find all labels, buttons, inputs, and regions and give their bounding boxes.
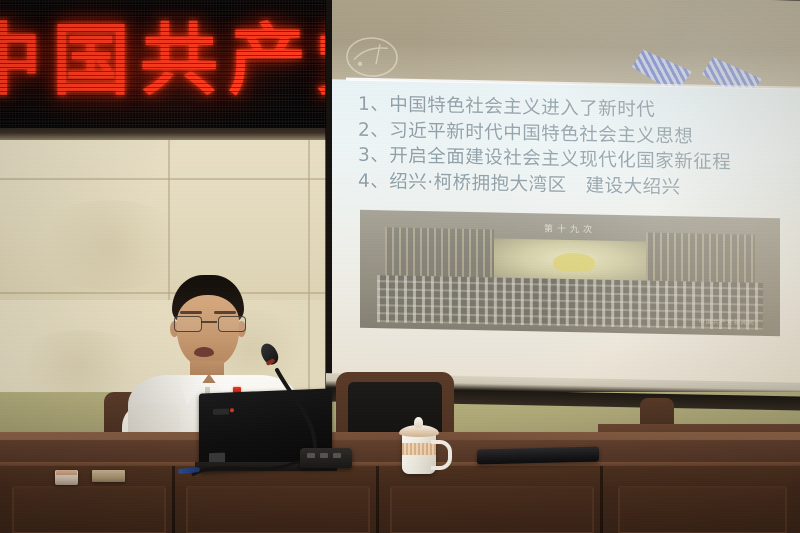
laptop-logo-dot-icon <box>230 408 234 412</box>
desk-panel <box>618 486 787 533</box>
desk-seam <box>600 466 603 533</box>
desk-panel <box>390 486 594 533</box>
desk-panel <box>12 486 166 533</box>
glasses-lens <box>174 316 202 332</box>
projection-screen: 1、中国特色社会主义进入了新时代 2、习近平新时代中国特色社会主义思想 3、开启… <box>332 0 800 393</box>
microphone-base[interactable] <box>300 448 352 468</box>
microphone-button[interactable] <box>307 453 315 458</box>
desk-seam <box>376 466 379 533</box>
led-banner: 中国共产党 <box>0 0 330 128</box>
desk-seam <box>172 466 175 533</box>
slide-logo-icon <box>344 33 400 80</box>
speaker-mouth <box>194 347 214 357</box>
led-banner-text: 中国共产党 <box>0 16 330 106</box>
wall-seam <box>0 178 340 180</box>
teacup-lid-knob <box>414 417 423 428</box>
microphone-stem <box>268 348 323 452</box>
laptop-logo-icon <box>213 408 229 415</box>
microphone-button[interactable] <box>333 453 341 458</box>
photo-emblem <box>553 253 595 273</box>
card-stack <box>92 470 125 482</box>
speaker-eyebrow <box>180 311 202 314</box>
glasses-lens <box>218 316 246 332</box>
desk-panel <box>186 486 370 533</box>
glasses-bridge <box>201 321 217 323</box>
microphone-button[interactable] <box>320 453 328 458</box>
conference-room-scene: 中国共产党 1、中国特色社会主义进入了新时代 2、习近平新时代中国特色社会主义思… <box>0 0 800 533</box>
teacup-handle <box>431 440 452 470</box>
photo-watermark: 中国共产党新闻网 <box>699 316 755 326</box>
tablet-device[interactable] <box>477 447 599 465</box>
slide-photo: 第十九次 中国共产党新闻网 <box>360 210 780 336</box>
small-box-lid <box>56 470 77 475</box>
glasses-icon <box>174 316 244 330</box>
slide-bullet-list: 1、中国特色社会主义进入了新时代 2、习近平新时代中国特色社会主义思想 3、开启… <box>358 92 798 203</box>
speaker-eyebrow <box>214 311 236 314</box>
